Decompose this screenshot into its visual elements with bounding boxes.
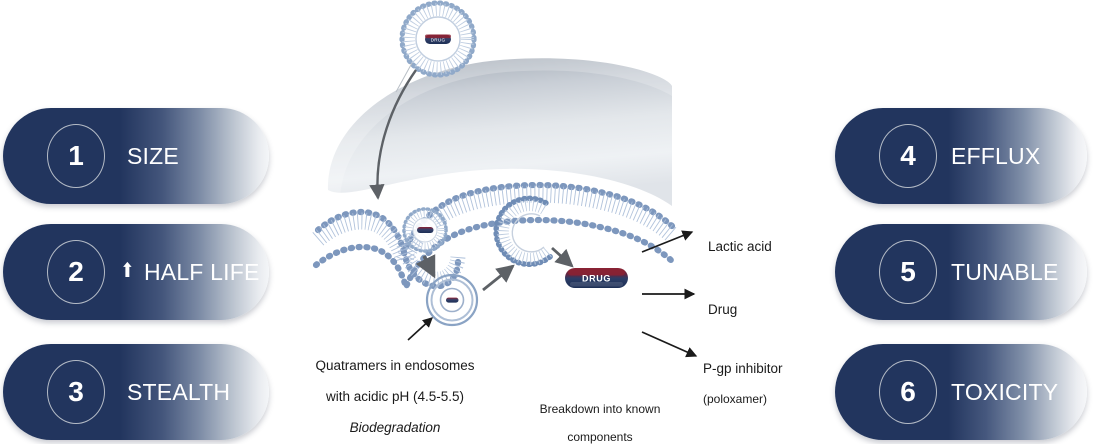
diagram-canvas: 1 SIZE 2 ⬆ HALF LIFE 3 STEALTH 4 EFFLUX … bbox=[0, 0, 1100, 444]
endosome-note: Quatramers in endosomes with acidic pH (… bbox=[290, 342, 500, 444]
arrow-output-pgp bbox=[642, 332, 696, 356]
feature-label-text: TOXICITY bbox=[951, 379, 1058, 406]
output-label-text: P-gp inhibitor bbox=[703, 361, 843, 377]
output-label-text: Drug bbox=[708, 302, 838, 318]
endosome-with-quatramer bbox=[427, 275, 477, 325]
feature-number-badge: 1 bbox=[47, 124, 105, 188]
arrow-endosome-to-degrading bbox=[483, 266, 513, 290]
feature-pill-stealth[interactable]: 3 STEALTH bbox=[3, 344, 269, 440]
up-arrow-icon: ⬆ bbox=[120, 261, 134, 281]
feature-label-text: TUNABLE bbox=[951, 259, 1058, 286]
arrow-note-to-endosome bbox=[408, 318, 432, 340]
uptake-schematic: DRUG bbox=[300, 0, 830, 444]
feature-label: TOXICITY bbox=[951, 379, 1058, 406]
released-drug-capsule: DRUG bbox=[565, 268, 628, 288]
output-sublabel-text: (poloxamer) bbox=[703, 392, 843, 406]
degrading-vesicle bbox=[496, 198, 551, 264]
feature-pill-half-life[interactable]: 2 ⬆ HALF LIFE bbox=[3, 224, 269, 320]
arrow-vesicle-to-endosome bbox=[424, 256, 434, 276]
cell-body bbox=[324, 55, 672, 206]
feature-label: ⬆ HALF LIFE bbox=[119, 259, 260, 286]
drug-capsule-small: DRUG bbox=[425, 35, 451, 45]
feature-label-text: HALF LIFE bbox=[144, 259, 260, 286]
drug-capsule-label-released: DRUG bbox=[582, 274, 611, 284]
arrow-output-lactic-acid bbox=[642, 232, 692, 252]
feature-label: SIZE bbox=[119, 143, 179, 170]
feature-label-text: EFFLUX bbox=[951, 143, 1040, 170]
feature-number-badge: 2 bbox=[47, 240, 105, 304]
endosome-note-line2: with acidic pH (4.5-5.5) bbox=[290, 389, 500, 405]
feature-label: STEALTH bbox=[119, 379, 230, 406]
endosome-note-line1: Quatramers in endosomes bbox=[290, 358, 500, 374]
feature-label-text: STEALTH bbox=[127, 379, 230, 406]
breakdown-note-line1: Breakdown into known bbox=[505, 402, 695, 416]
endosome-note-line3: Biodegradation bbox=[290, 420, 500, 436]
feature-label: TUNABLE bbox=[951, 259, 1058, 286]
drug-capsule-label-top: DRUG bbox=[431, 38, 446, 43]
feature-number-badge: 3 bbox=[47, 360, 105, 424]
feature-pill-toxicity[interactable]: 6 TOXICITY bbox=[835, 344, 1087, 440]
arrow-degrading-to-drug bbox=[552, 248, 572, 266]
quatramer-vesicle-top: DRUG bbox=[402, 3, 474, 75]
breakdown-note: Breakdown into known components (already… bbox=[505, 388, 695, 444]
output-label-text: Lactic acid bbox=[708, 239, 838, 255]
drug-capsule-internalized bbox=[417, 227, 434, 233]
breakdown-note-line2: components bbox=[505, 430, 695, 444]
output-label-drug: Drug bbox=[708, 286, 838, 333]
feature-number-badge: 5 bbox=[879, 240, 937, 304]
output-label-pgp-inhibitor: P-gp inhibitor (poloxamer) bbox=[703, 345, 843, 421]
feature-label: EFFLUX bbox=[951, 143, 1040, 170]
output-label-lactic-acid: Lactic acid bbox=[708, 223, 838, 270]
feature-pill-tunable[interactable]: 5 TUNABLE bbox=[835, 224, 1087, 320]
feature-pill-efflux[interactable]: 4 EFFLUX bbox=[835, 108, 1087, 204]
feature-pill-size[interactable]: 1 SIZE bbox=[3, 108, 269, 204]
feature-number-badge: 6 bbox=[879, 360, 937, 424]
internalized-vesicle bbox=[404, 209, 446, 251]
feature-label-text: SIZE bbox=[127, 143, 179, 170]
feature-number-badge: 4 bbox=[879, 124, 937, 188]
drug-capsule-endosome bbox=[446, 298, 459, 303]
